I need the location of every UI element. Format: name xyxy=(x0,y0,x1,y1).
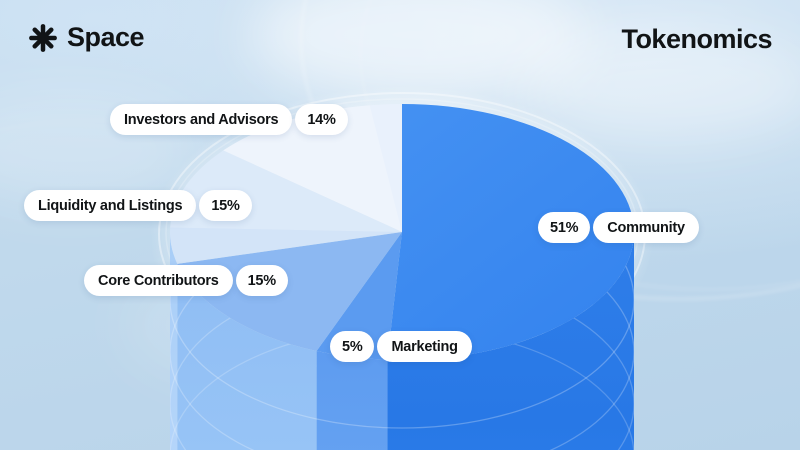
callout-community[interactable]: 51% Community xyxy=(538,212,699,243)
page-title: Tokenomics xyxy=(621,24,772,55)
callout-label: Liquidity and Listings xyxy=(24,190,196,221)
callout-core-contributors[interactable]: Core Contributors 15% xyxy=(84,265,288,296)
callout-liquidity-and-listings[interactable]: Liquidity and Listings 15% xyxy=(24,190,252,221)
brand-name: Space xyxy=(67,22,144,53)
slide-header: Space Tokenomics xyxy=(0,0,800,84)
callout-investors-and-advisors[interactable]: Investors and Advisors 14% xyxy=(110,104,348,135)
callout-percent: 15% xyxy=(236,265,288,296)
callout-percent: 51% xyxy=(538,212,590,243)
asterisk-star-icon xyxy=(28,23,58,53)
callout-percent: 15% xyxy=(199,190,251,221)
brand-logo: Space xyxy=(28,22,144,53)
callout-label: Core Contributors xyxy=(84,265,233,296)
callout-percent: 5% xyxy=(330,331,374,362)
callout-marketing[interactable]: 5% Marketing xyxy=(330,331,472,362)
tokenomics-slide: Space Tokenomics Investors and Advisors … xyxy=(0,0,800,450)
callout-label: Investors and Advisors xyxy=(110,104,292,135)
callout-label: Community xyxy=(593,212,699,243)
cylinder-wall-marketing xyxy=(317,351,388,450)
callout-percent: 14% xyxy=(295,104,347,135)
callout-label: Marketing xyxy=(377,331,471,362)
